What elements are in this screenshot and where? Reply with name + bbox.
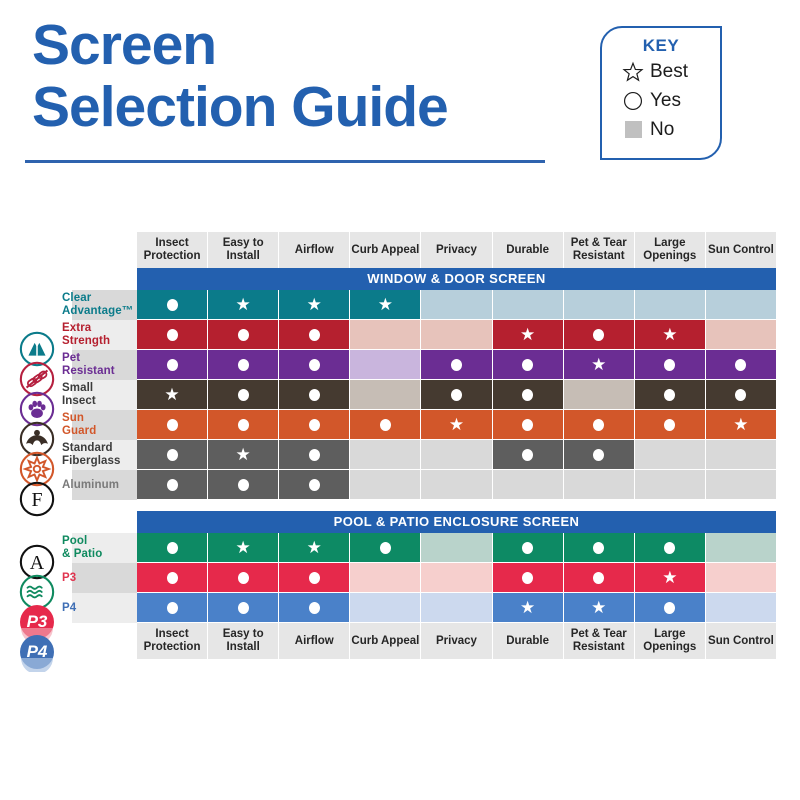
yes-dot-icon bbox=[522, 389, 533, 401]
yes-dot-icon bbox=[451, 359, 462, 371]
yes-dot-icon bbox=[167, 419, 178, 431]
yes-dot-icon bbox=[167, 479, 178, 491]
cell-dot[interactable] bbox=[564, 440, 635, 470]
cell-dot[interactable] bbox=[208, 350, 279, 380]
yes-dot-icon bbox=[309, 572, 320, 584]
circle-outline-icon bbox=[620, 90, 646, 112]
page-header: Screen Selection Guide KEY Best Yes bbox=[0, 0, 800, 200]
table-row[interactable]: ExtraStrength★★ bbox=[0, 320, 776, 350]
cell-dot[interactable] bbox=[208, 470, 279, 500]
cell-dot[interactable] bbox=[208, 320, 279, 350]
cell-dot[interactable] bbox=[208, 410, 279, 440]
cell-no[interactable] bbox=[706, 320, 776, 350]
cell-no[interactable] bbox=[421, 563, 492, 593]
key-item-no: No bbox=[620, 116, 720, 143]
cell-dot[interactable] bbox=[564, 533, 635, 563]
gray-square-icon bbox=[620, 121, 646, 138]
yes-dot-icon bbox=[522, 542, 533, 554]
row-cells: ★★ bbox=[137, 593, 776, 623]
cell-no[interactable] bbox=[564, 380, 635, 410]
yes-dot-icon bbox=[167, 359, 178, 371]
page-title: Screen Selection Guide bbox=[32, 14, 577, 138]
cell-dot[interactable] bbox=[137, 593, 208, 623]
column-header-durable[interactable]: Durable bbox=[493, 232, 564, 268]
cell-no[interactable] bbox=[706, 440, 776, 470]
yes-dot-icon bbox=[664, 542, 675, 554]
best-star-icon: ★ bbox=[236, 296, 251, 313]
column-header-row-bottom: Insect ProtectionEasy to InstallAirflowC… bbox=[0, 623, 776, 659]
row-label-cell: ClearAdvantage™ bbox=[0, 290, 137, 320]
table-row[interactable]: StandardFiberglass★ bbox=[0, 440, 776, 470]
yes-dot-icon bbox=[238, 479, 249, 491]
cell-dot[interactable] bbox=[137, 440, 208, 470]
row-cells: ★ bbox=[137, 350, 776, 380]
yes-dot-icon bbox=[309, 389, 320, 401]
yes-dot-icon bbox=[309, 419, 320, 431]
cell-dot[interactable] bbox=[137, 470, 208, 500]
yes-dot-icon bbox=[593, 542, 604, 554]
cell-dot[interactable] bbox=[635, 380, 706, 410]
cell-no[interactable] bbox=[635, 290, 706, 320]
column-header-pet-tear-resistant[interactable]: Pet & Tear Resistant bbox=[564, 232, 635, 268]
yes-dot-icon bbox=[238, 419, 249, 431]
column-header-airflow[interactable]: Airflow bbox=[279, 623, 350, 659]
best-star-icon: ★ bbox=[520, 326, 535, 343]
letter-f-icon: F bbox=[17, 479, 57, 519]
best-star-icon: ★ bbox=[520, 599, 535, 616]
best-star-icon: ★ bbox=[591, 599, 606, 616]
row-label-band bbox=[72, 563, 137, 593]
table-row[interactable]: SmallInsect★ bbox=[0, 380, 776, 410]
row-label-band bbox=[72, 593, 137, 623]
cell-dot[interactable] bbox=[493, 440, 564, 470]
p4-badge-icon: P4 bbox=[17, 632, 57, 672]
cell-dot[interactable] bbox=[493, 380, 564, 410]
best-star-icon: ★ bbox=[662, 326, 677, 343]
column-header-sun-control[interactable]: Sun Control bbox=[706, 623, 776, 659]
cell-dot[interactable] bbox=[493, 563, 564, 593]
page-title-line-2: Selection Guide bbox=[32, 76, 577, 138]
key-title: KEY bbox=[602, 36, 720, 56]
yes-dot-icon bbox=[451, 389, 462, 401]
column-header-privacy[interactable]: Privacy bbox=[421, 232, 492, 268]
column-header-sun-control[interactable]: Sun Control bbox=[706, 232, 776, 268]
cell-star[interactable]: ★ bbox=[564, 350, 635, 380]
best-star-icon: ★ bbox=[449, 416, 464, 433]
cell-star[interactable]: ★ bbox=[635, 320, 706, 350]
cell-no[interactable] bbox=[706, 470, 776, 500]
cell-dot[interactable] bbox=[279, 563, 350, 593]
best-star-icon: ★ bbox=[236, 539, 251, 556]
yes-dot-icon bbox=[309, 329, 320, 341]
column-header-large-openings[interactable]: Large Openings bbox=[635, 232, 706, 268]
yes-dot-icon bbox=[664, 389, 675, 401]
best-star-icon: ★ bbox=[733, 416, 748, 433]
yes-dot-icon bbox=[167, 329, 178, 341]
yes-dot-icon bbox=[522, 419, 533, 431]
cell-dot[interactable] bbox=[279, 410, 350, 440]
cell-no[interactable] bbox=[421, 440, 492, 470]
cell-no[interactable] bbox=[421, 320, 492, 350]
cell-dot[interactable] bbox=[635, 410, 706, 440]
cell-no[interactable] bbox=[350, 320, 421, 350]
cell-no[interactable] bbox=[635, 470, 706, 500]
cell-dot[interactable] bbox=[421, 350, 492, 380]
column-header-privacy[interactable]: Privacy bbox=[421, 623, 492, 659]
column-header-easy-to-install[interactable]: Easy to Install bbox=[208, 623, 279, 659]
cell-no[interactable] bbox=[350, 563, 421, 593]
cell-dot[interactable] bbox=[279, 350, 350, 380]
cell-dot[interactable] bbox=[350, 410, 421, 440]
best-star-icon: ★ bbox=[307, 539, 322, 556]
key-item-yes: Yes bbox=[620, 87, 720, 114]
cell-no[interactable] bbox=[350, 593, 421, 623]
row-label: ClearAdvantage™ bbox=[0, 292, 133, 318]
cell-dot[interactable] bbox=[564, 410, 635, 440]
table-row[interactable]: SunGuard★★ bbox=[0, 410, 776, 440]
cell-dot[interactable] bbox=[493, 533, 564, 563]
cell-dot[interactable] bbox=[279, 380, 350, 410]
cell-no[interactable] bbox=[350, 350, 421, 380]
cell-no[interactable] bbox=[706, 593, 776, 623]
row-cells: ★★★ bbox=[137, 290, 776, 320]
section-banner-spacer bbox=[0, 268, 137, 290]
svg-text:F: F bbox=[31, 489, 42, 511]
column-header-durable[interactable]: Durable bbox=[493, 623, 564, 659]
cell-star[interactable]: ★ bbox=[279, 290, 350, 320]
column-header-pet-tear-resistant[interactable]: Pet & Tear Resistant bbox=[564, 623, 635, 659]
yes-dot-icon bbox=[238, 359, 249, 371]
yes-dot-icon bbox=[664, 419, 675, 431]
cell-dot[interactable] bbox=[137, 533, 208, 563]
cell-dot[interactable] bbox=[706, 380, 776, 410]
table-row[interactable]: Aluminum bbox=[0, 470, 776, 500]
cell-no[interactable] bbox=[493, 290, 564, 320]
cell-dot[interactable] bbox=[635, 350, 706, 380]
column-header-insect-protection[interactable]: Insect Protection bbox=[137, 232, 208, 268]
cell-star[interactable]: ★ bbox=[350, 290, 421, 320]
cell-dot[interactable] bbox=[279, 593, 350, 623]
cell-dot[interactable] bbox=[564, 563, 635, 593]
yes-dot-icon bbox=[238, 389, 249, 401]
yes-dot-icon bbox=[238, 572, 249, 584]
cell-no[interactable] bbox=[706, 533, 776, 563]
yes-dot-icon bbox=[238, 329, 249, 341]
cell-star[interactable]: ★ bbox=[421, 410, 492, 440]
cell-no[interactable] bbox=[706, 290, 776, 320]
row-cells: ★★ bbox=[137, 410, 776, 440]
cell-star[interactable]: ★ bbox=[208, 290, 279, 320]
table-row[interactable]: P3★ bbox=[0, 563, 776, 593]
cell-no[interactable] bbox=[421, 290, 492, 320]
title-underline bbox=[25, 160, 545, 163]
cell-dot[interactable] bbox=[350, 533, 421, 563]
yes-dot-icon bbox=[380, 419, 391, 431]
cell-star[interactable]: ★ bbox=[137, 380, 208, 410]
cell-star[interactable]: ★ bbox=[208, 533, 279, 563]
cell-star[interactable]: ★ bbox=[493, 593, 564, 623]
cell-dot[interactable] bbox=[208, 380, 279, 410]
column-header-curb-appeal[interactable]: Curb Appeal bbox=[350, 623, 421, 659]
table-row[interactable]: ClearAdvantage™★★★ bbox=[0, 290, 776, 320]
cell-no[interactable] bbox=[421, 533, 492, 563]
yes-dot-icon bbox=[593, 329, 604, 341]
cell-dot[interactable] bbox=[279, 470, 350, 500]
row-cells: ★ bbox=[137, 563, 776, 593]
column-header-curb-appeal[interactable]: Curb Appeal bbox=[350, 232, 421, 268]
yes-dot-icon bbox=[593, 419, 604, 431]
key-legend-box: KEY Best Yes No bbox=[600, 26, 722, 160]
column-header-insect-protection[interactable]: Insect Protection bbox=[137, 623, 208, 659]
best-star-icon: ★ bbox=[307, 296, 322, 313]
svg-text:A: A bbox=[30, 552, 45, 574]
cell-no[interactable] bbox=[421, 470, 492, 500]
cell-no[interactable] bbox=[350, 380, 421, 410]
cell-dot[interactable] bbox=[279, 440, 350, 470]
cell-dot[interactable] bbox=[137, 350, 208, 380]
cell-dot[interactable] bbox=[493, 350, 564, 380]
screen-selection-table: Insect ProtectionEasy to InstallAirflowC… bbox=[0, 232, 800, 659]
section-banner-row: WINDOW & DOOR SCREEN bbox=[0, 268, 776, 290]
cell-no[interactable] bbox=[635, 440, 706, 470]
cell-dot[interactable] bbox=[421, 380, 492, 410]
svg-text:P4: P4 bbox=[27, 642, 48, 661]
yes-dot-icon bbox=[380, 542, 391, 554]
best-star-icon: ★ bbox=[662, 569, 677, 586]
yes-dot-icon bbox=[735, 389, 746, 401]
cell-dot[interactable] bbox=[635, 593, 706, 623]
yes-dot-icon bbox=[167, 299, 178, 311]
key-label-yes: Yes bbox=[650, 90, 681, 112]
yes-dot-icon bbox=[593, 572, 604, 584]
section-banner-row: POOL & PATIO ENCLOSURE SCREEN bbox=[0, 511, 776, 533]
cell-star[interactable]: ★ bbox=[279, 533, 350, 563]
row-cells: ★★ bbox=[137, 533, 776, 563]
cell-no[interactable] bbox=[493, 470, 564, 500]
best-star-icon: ★ bbox=[378, 296, 393, 313]
yes-dot-icon bbox=[593, 449, 604, 461]
cell-no[interactable] bbox=[564, 290, 635, 320]
yes-dot-icon bbox=[309, 359, 320, 371]
cell-no[interactable] bbox=[421, 593, 492, 623]
yes-dot-icon bbox=[664, 602, 675, 614]
cell-dot[interactable] bbox=[137, 563, 208, 593]
yes-dot-icon bbox=[167, 542, 178, 554]
column-header-row-top: Insect ProtectionEasy to InstallAirflowC… bbox=[0, 232, 776, 268]
yes-dot-icon bbox=[238, 602, 249, 614]
cell-dot[interactable] bbox=[706, 350, 776, 380]
page-title-line-1: Screen bbox=[32, 14, 577, 76]
best-star-icon: ★ bbox=[236, 446, 251, 463]
column-header-easy-to-install[interactable]: Easy to Install bbox=[208, 232, 279, 268]
yes-dot-icon bbox=[522, 572, 533, 584]
best-star-icon: ★ bbox=[164, 386, 179, 403]
yes-dot-icon bbox=[522, 359, 533, 371]
row-cells: ★ bbox=[137, 380, 776, 410]
cell-star[interactable]: ★ bbox=[706, 410, 776, 440]
table-row[interactable]: P4★★ bbox=[0, 593, 776, 623]
cell-star[interactable]: ★ bbox=[564, 593, 635, 623]
cell-dot[interactable] bbox=[137, 290, 208, 320]
section-gap bbox=[0, 500, 776, 511]
cell-dot[interactable] bbox=[635, 533, 706, 563]
column-header-spacer bbox=[0, 232, 137, 268]
cell-star[interactable]: ★ bbox=[493, 320, 564, 350]
section-banner: POOL & PATIO ENCLOSURE SCREEN bbox=[137, 511, 776, 533]
svg-text:P3: P3 bbox=[27, 612, 48, 631]
best-star-icon: ★ bbox=[591, 356, 606, 373]
yes-dot-icon bbox=[167, 572, 178, 584]
cell-dot[interactable] bbox=[279, 320, 350, 350]
cell-dot[interactable] bbox=[137, 320, 208, 350]
yes-dot-icon bbox=[309, 479, 320, 491]
cell-dot[interactable] bbox=[208, 563, 279, 593]
cell-dot[interactable] bbox=[208, 593, 279, 623]
yes-dot-icon bbox=[167, 602, 178, 614]
key-label-best: Best bbox=[650, 61, 688, 83]
cell-no[interactable] bbox=[706, 563, 776, 593]
yes-dot-icon bbox=[735, 359, 746, 371]
key-item-best: Best bbox=[620, 58, 720, 85]
cell-no[interactable] bbox=[350, 470, 421, 500]
cell-dot[interactable] bbox=[564, 320, 635, 350]
yes-dot-icon bbox=[522, 449, 533, 461]
cell-dot[interactable] bbox=[493, 410, 564, 440]
key-label-no: No bbox=[650, 119, 674, 141]
yes-dot-icon bbox=[664, 359, 675, 371]
yes-dot-icon bbox=[309, 602, 320, 614]
cell-no[interactable] bbox=[564, 470, 635, 500]
cell-star[interactable]: ★ bbox=[208, 440, 279, 470]
table-row[interactable]: PetResistant★ bbox=[0, 350, 776, 380]
row-cells bbox=[137, 470, 776, 500]
section-banner: WINDOW & DOOR SCREEN bbox=[137, 268, 776, 290]
row-cells: ★★ bbox=[137, 320, 776, 350]
yes-dot-icon bbox=[167, 449, 178, 461]
column-header-airflow[interactable]: Airflow bbox=[279, 232, 350, 268]
row-cells: ★ bbox=[137, 440, 776, 470]
column-header-large-openings[interactable]: Large Openings bbox=[635, 623, 706, 659]
table-row[interactable]: Pool& Patio★★ bbox=[0, 533, 776, 563]
cell-star[interactable]: ★ bbox=[635, 563, 706, 593]
cell-dot[interactable] bbox=[137, 410, 208, 440]
cell-no[interactable] bbox=[350, 440, 421, 470]
star-outline-icon bbox=[620, 61, 646, 83]
yes-dot-icon bbox=[309, 449, 320, 461]
